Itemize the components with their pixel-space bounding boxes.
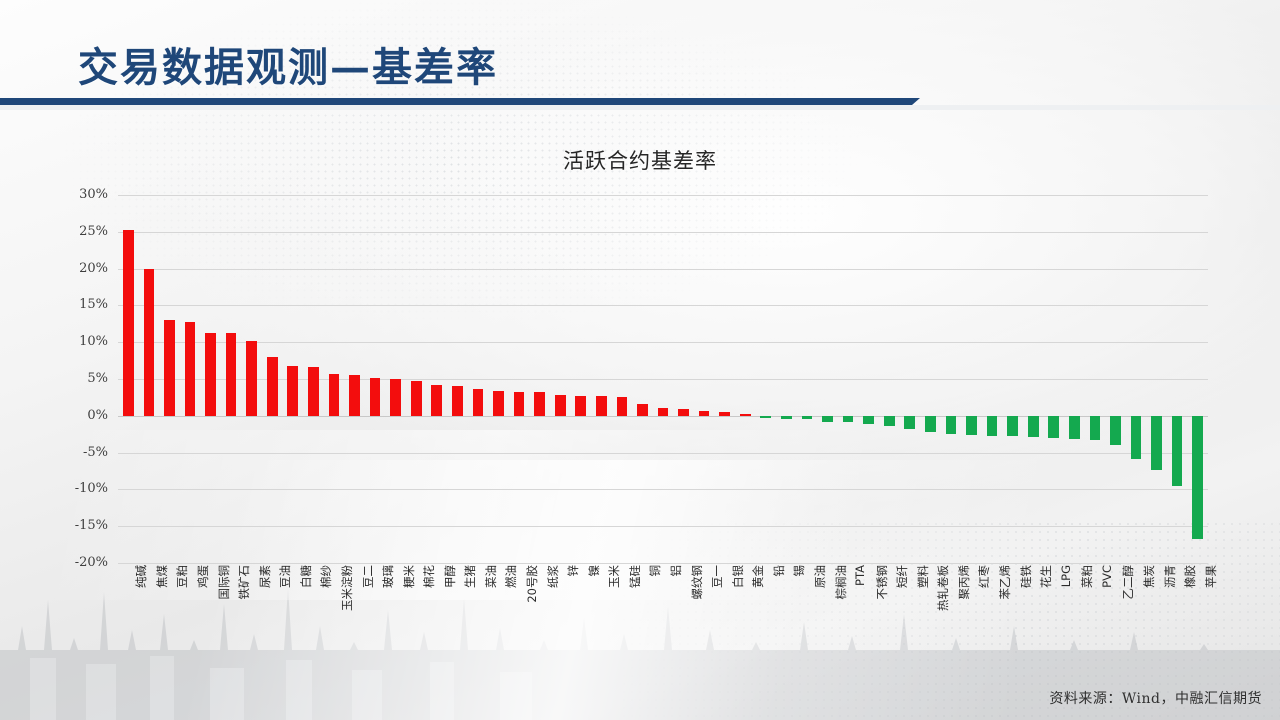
x-tick-label: 铝 xyxy=(668,565,684,577)
x-axis-category-labels: 纯碱焦煤豆粕鸡蛋国际铜铁矿石尿素豆油白糖棉纱玉米淀粉豆二玻璃粳米棉花甲醇生猪菜油… xyxy=(118,565,1208,670)
x-tick-label: 橡胶 xyxy=(1182,565,1198,588)
y-tick-label: 5% xyxy=(48,371,108,386)
bar xyxy=(370,378,381,416)
x-tick-label: 热轧卷板 xyxy=(935,565,951,611)
x-tick-label: 硅铁 xyxy=(1018,565,1034,588)
bar xyxy=(1028,416,1039,437)
x-tick-label: 锰硅 xyxy=(627,565,643,588)
x-tick-label: 锌 xyxy=(565,565,581,577)
x-tick-label: 短纤 xyxy=(894,565,910,588)
x-tick-label: 白银 xyxy=(730,565,746,588)
gridline xyxy=(118,563,1208,564)
x-tick-label: 甲醇 xyxy=(442,565,458,588)
bar xyxy=(760,416,771,418)
x-tick-label: PVC xyxy=(1100,565,1114,588)
bar xyxy=(987,416,998,436)
y-tick-label: 30% xyxy=(48,187,108,202)
bar xyxy=(123,230,134,416)
x-tick-label: 菜粕 xyxy=(1079,565,1095,588)
bar xyxy=(349,375,360,416)
bar xyxy=(411,381,422,416)
bar xyxy=(1172,416,1183,486)
bar xyxy=(1151,416,1162,470)
x-tick-label: 纸浆 xyxy=(545,565,561,588)
bar xyxy=(144,269,155,416)
x-tick-label: 乙二醇 xyxy=(1120,565,1136,600)
chart-title: 活跃合约基差率 xyxy=(0,145,1280,175)
bar xyxy=(473,389,484,415)
x-tick-label: 焦炭 xyxy=(1141,565,1157,588)
x-tick-label: 棉纱 xyxy=(318,565,334,588)
bar xyxy=(1048,416,1059,438)
y-tick-label: -10% xyxy=(48,481,108,496)
bar xyxy=(1131,416,1142,459)
x-tick-label: 塑料 xyxy=(915,565,931,588)
bar xyxy=(1110,416,1121,445)
bar xyxy=(287,366,298,415)
x-tick-label: 苹果 xyxy=(1203,565,1219,588)
bar xyxy=(904,416,915,429)
x-tick-label: 苯乙烯 xyxy=(997,565,1013,600)
x-tick-label: 豆油 xyxy=(277,565,293,588)
bar xyxy=(966,416,977,435)
x-tick-label: 沥青 xyxy=(1162,565,1178,588)
bar xyxy=(946,416,957,434)
bar xyxy=(390,379,401,416)
y-tick-label: -20% xyxy=(48,555,108,570)
bar xyxy=(226,333,237,415)
y-tick-label: -5% xyxy=(48,445,108,460)
x-tick-label: 国际铜 xyxy=(216,565,232,600)
y-tick-label: -15% xyxy=(48,518,108,533)
x-tick-label: 鸡蛋 xyxy=(195,565,211,588)
x-tick-label: 镍 xyxy=(586,565,602,577)
x-tick-label: 尿素 xyxy=(257,565,273,588)
bar xyxy=(431,385,442,416)
x-tick-label: 玉米 xyxy=(606,565,622,588)
bar-series xyxy=(118,195,1208,563)
bar xyxy=(267,357,278,416)
x-tick-label: 豆一 xyxy=(709,565,725,588)
x-tick-label: 棉花 xyxy=(421,565,437,588)
bar xyxy=(164,320,175,416)
bar xyxy=(575,396,586,416)
x-tick-label: 黄金 xyxy=(750,565,766,588)
bar xyxy=(205,333,216,416)
x-tick-label: 豆二 xyxy=(360,565,376,588)
bar xyxy=(658,408,669,416)
y-tick-label: 15% xyxy=(48,297,108,312)
x-tick-label: LPG xyxy=(1059,565,1073,587)
x-tick-label: 粳米 xyxy=(401,565,417,588)
bar xyxy=(617,397,628,416)
y-tick-label: 25% xyxy=(48,224,108,239)
x-tick-label: 红枣 xyxy=(976,565,992,588)
x-tick-label: 锡 xyxy=(791,565,807,577)
bar xyxy=(925,416,936,432)
x-tick-label: 聚丙烯 xyxy=(956,565,972,600)
x-tick-label: 燃油 xyxy=(503,565,519,588)
x-tick-label: PTA xyxy=(853,565,867,586)
bar xyxy=(1069,416,1080,439)
source-note: 资料来源：Wind，中融汇信期货 xyxy=(1049,688,1262,708)
chart-container: 活跃合约基差率 30%25%20%15%10%5%0%-5%-10%-15%-2… xyxy=(0,128,1280,668)
x-tick-label: 豆粕 xyxy=(174,565,190,588)
bar xyxy=(822,416,833,422)
bar xyxy=(185,322,196,416)
bar xyxy=(863,416,874,424)
x-tick-label: 不锈钢 xyxy=(874,565,890,600)
y-tick-label: 20% xyxy=(48,261,108,276)
x-tick-label: 铜 xyxy=(647,565,663,577)
x-tick-label: 玻璃 xyxy=(380,565,396,588)
bar xyxy=(802,416,813,420)
x-tick-label: 焦煤 xyxy=(154,565,170,588)
x-tick-label: 原油 xyxy=(812,565,828,588)
bar xyxy=(843,416,854,423)
bar xyxy=(246,341,257,416)
bar xyxy=(699,411,710,416)
bar xyxy=(740,414,751,416)
bar xyxy=(719,412,730,416)
bar xyxy=(493,391,504,416)
page-title: 交易数据观测—基差率 xyxy=(78,35,498,93)
x-tick-label: 棕榈油 xyxy=(833,565,849,600)
bar xyxy=(781,416,792,419)
x-tick-label: 花生 xyxy=(1038,565,1054,588)
bar xyxy=(1090,416,1101,440)
header-divider xyxy=(0,98,1280,110)
y-tick-label: 10% xyxy=(48,334,108,349)
bar xyxy=(452,386,463,416)
x-tick-label: 纯碱 xyxy=(133,565,149,588)
bar xyxy=(308,367,319,416)
bar xyxy=(555,395,566,416)
plot-area xyxy=(118,195,1208,563)
x-tick-label: 20号胶 xyxy=(524,565,540,603)
bar xyxy=(637,404,648,416)
bar xyxy=(329,374,340,416)
bar xyxy=(596,396,607,416)
x-tick-label: 生猪 xyxy=(462,565,478,588)
bar xyxy=(678,409,689,416)
bar xyxy=(1007,416,1018,437)
bar xyxy=(1192,416,1203,540)
bar xyxy=(534,392,545,416)
x-tick-label: 铅 xyxy=(771,565,787,577)
bar xyxy=(884,416,895,426)
x-tick-label: 玉米淀粉 xyxy=(339,565,355,611)
bar xyxy=(514,392,525,416)
y-tick-label: 0% xyxy=(48,408,108,423)
x-tick-label: 螺纹钢 xyxy=(689,565,705,600)
x-tick-label: 铁矿石 xyxy=(236,565,252,600)
x-tick-label: 菜油 xyxy=(483,565,499,588)
x-tick-label: 白糖 xyxy=(298,565,314,588)
